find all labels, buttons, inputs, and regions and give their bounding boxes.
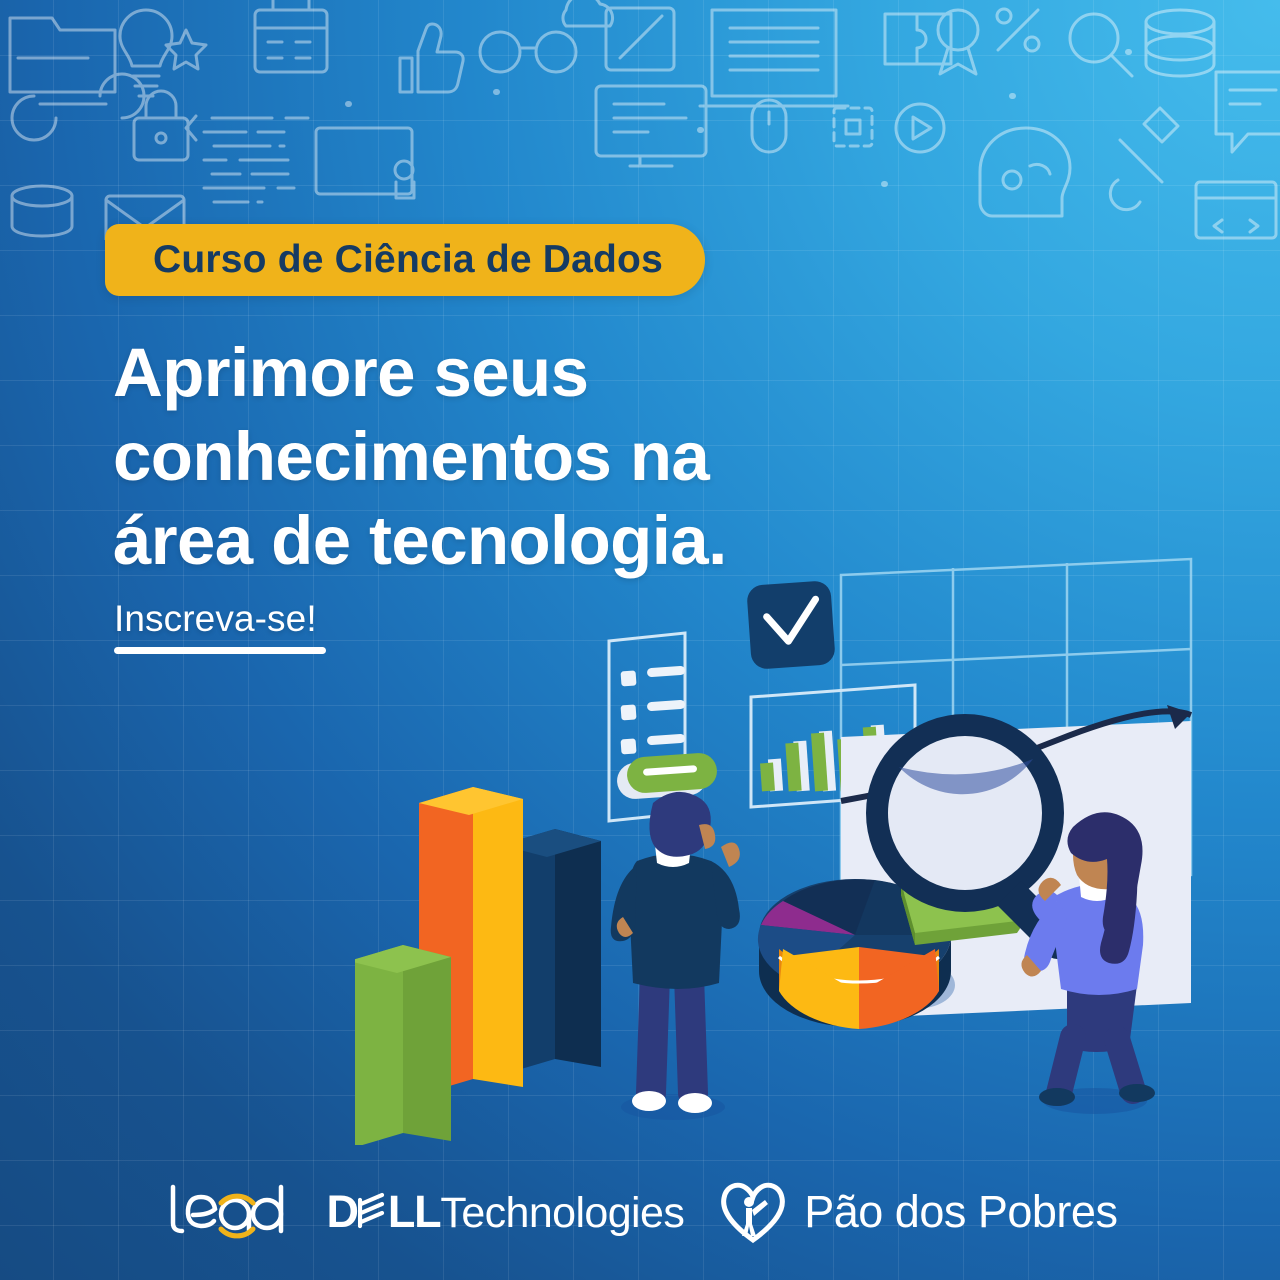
lightbulb-icon	[120, 10, 172, 96]
medal-icon	[938, 10, 978, 74]
thumbs-up-icon	[400, 24, 463, 92]
dell-technologies-word: Technologies	[440, 1189, 684, 1238]
window-icon	[1196, 182, 1276, 238]
dell-e-slash-icon	[358, 1192, 388, 1232]
laptop-icon	[700, 10, 848, 106]
headline-line-2: conhecimentos na	[113, 415, 727, 499]
percent-icon	[997, 9, 1039, 51]
pao-dos-pobres-word: Pão dos Pobres	[804, 1186, 1117, 1238]
promo-poster: Curso de Ciência de Dados Aprimore seus …	[0, 0, 1280, 1280]
call-to-action[interactable]: Inscreva-se!	[114, 598, 326, 654]
monitor-icon	[596, 86, 706, 166]
background-doodle-pattern	[0, 0, 1280, 240]
mouse-icon	[752, 100, 786, 152]
play-icon	[896, 104, 944, 152]
cta-underline	[114, 647, 326, 654]
pao-dos-pobres-logo: Pão dos Pobres	[718, 1178, 1117, 1246]
presenter-icon	[316, 128, 414, 198]
checklist-panel	[609, 633, 718, 821]
brain-icon	[980, 128, 1070, 216]
search-icon	[1070, 14, 1132, 76]
database-small-icon	[12, 186, 72, 236]
dell-letter-d: D	[327, 1186, 358, 1238]
bar-green	[355, 945, 451, 1145]
dell-letters-ll: LL	[388, 1186, 441, 1238]
checkmark-card	[746, 580, 836, 670]
isometric-bar-chart	[355, 787, 601, 1145]
code-icon	[186, 116, 308, 202]
calendar-icon	[255, 0, 327, 72]
course-badge: Curso de Ciência de Dados	[105, 224, 705, 296]
pencil-icon	[606, 8, 674, 70]
highlighted-task	[616, 752, 718, 800]
data-science-illustration	[355, 545, 1235, 1145]
database-icon	[1146, 10, 1214, 76]
folder-icon	[10, 18, 115, 92]
dell-technologies-logo: D LL Technologies	[327, 1186, 685, 1238]
qr-icon	[834, 108, 872, 146]
cta-label: Inscreva-se!	[114, 598, 326, 640]
dell-wordmark: D LL	[327, 1186, 441, 1238]
dot-decoration	[348, 52, 1129, 184]
wrench-icon	[12, 74, 144, 140]
glasses-icon	[480, 32, 576, 72]
hammer-wrench-icon	[1110, 108, 1178, 210]
chat-icon	[1216, 72, 1280, 152]
man-figure	[611, 792, 740, 1120]
lead-logo	[163, 1179, 293, 1245]
course-badge-label: Curso de Ciência de Dados	[153, 238, 663, 282]
headline-line-1: Aprimore seus	[113, 331, 727, 415]
partner-logos: D LL Technologies Pão do	[0, 1178, 1280, 1246]
heart-person-icon	[718, 1178, 788, 1246]
